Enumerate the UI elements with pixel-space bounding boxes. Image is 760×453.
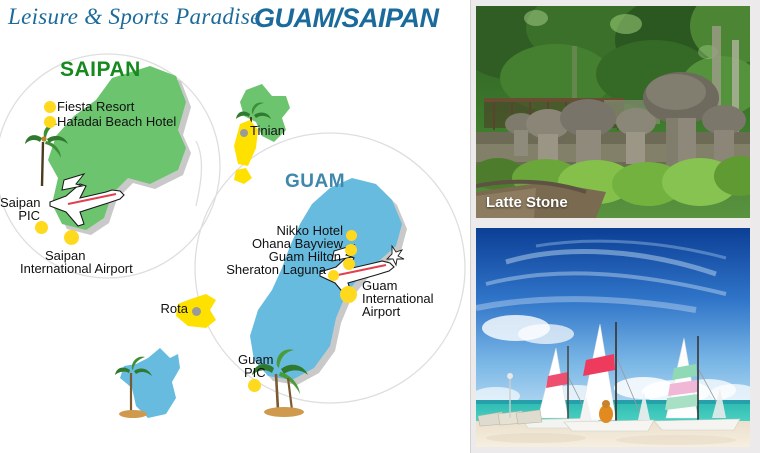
label-fiesta-resort: Fiesta Resort <box>57 100 134 114</box>
label-guam-pic-line2: PIC <box>244 366 266 380</box>
marker-saipan-international-airport[interactable] <box>64 230 79 245</box>
page-header: Leisure & Sports Paradise GUAM/SAIPAN <box>0 0 470 40</box>
marker-nikko-hotel[interactable] <box>346 230 357 241</box>
page-title-destination: GUAM/SAIPAN <box>254 3 439 34</box>
latte-stone-image <box>476 6 750 218</box>
photo-column: Latte Stone <box>471 0 760 453</box>
marker-rota[interactable] <box>192 307 201 316</box>
beach-sailboats-photo[interactable] <box>476 228 750 447</box>
map-panel: SAIPAN Fiesta Resort Hafadai Beach Hotel… <box>0 38 470 453</box>
marker-hafadai-beach-hotel[interactable] <box>44 116 56 128</box>
marker-sheraton-laguna[interactable] <box>328 270 339 281</box>
label-hafadai-beach-hotel: Hafadai Beach Hotel <box>57 115 176 129</box>
region-title-saipan: SAIPAN <box>60 58 141 82</box>
label-saipan-airport-line2: International Airport <box>20 262 133 276</box>
marker-ohana-bayview[interactable] <box>345 244 357 256</box>
beach-sailboats-image <box>476 228 750 447</box>
photo-caption-latte-stone: Latte Stone <box>486 194 568 211</box>
page-root: Leisure & Sports Paradise GUAM/SAIPAN <box>0 0 760 453</box>
label-guam-airport-line3: Airport <box>362 305 400 319</box>
marker-guam-international-airport[interactable] <box>340 286 357 303</box>
label-sheraton-laguna: Sheraton Laguna <box>200 263 326 277</box>
marker-tinian[interactable] <box>240 129 248 137</box>
label-saipan-pic-line2: PIC <box>0 209 40 223</box>
page-title-script: Leisure & Sports Paradise <box>8 4 261 30</box>
marker-fiesta-resort[interactable] <box>44 101 56 113</box>
label-rota: Rota <box>140 302 188 316</box>
latte-stone-photo[interactable]: Latte Stone <box>476 6 750 218</box>
label-tinian: Tinian <box>250 124 285 138</box>
marker-guam-pic[interactable] <box>248 379 261 392</box>
guam-mini-island-shape <box>120 348 180 418</box>
region-title-guam: GUAM <box>285 171 345 193</box>
saipan-leader-line <box>196 141 201 206</box>
marker-guam-hilton[interactable] <box>343 258 355 270</box>
